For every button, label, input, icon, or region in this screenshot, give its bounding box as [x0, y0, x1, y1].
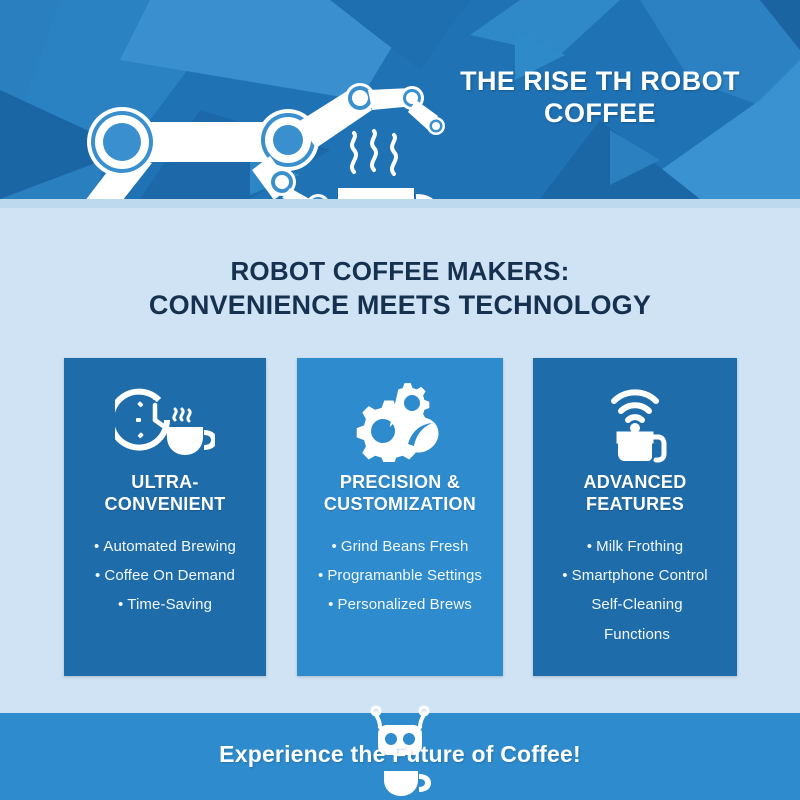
- list-item: Self-Cleaning: [539, 590, 731, 619]
- card-feature-list: •Milk Frothing •Smartphone Control Self-…: [533, 532, 737, 649]
- list-item-label: Automated Brewing: [103, 538, 236, 555]
- bullet-icon: •: [318, 567, 323, 584]
- list-item-label: Smartphone Control: [572, 567, 708, 584]
- robot-arm-illustration: [60, 60, 480, 199]
- feature-card-advanced-features[interactable]: ADVANCED FEATURES •Milk Frothing •Smartp…: [533, 358, 737, 676]
- steam-icon: [352, 131, 396, 174]
- list-item: •Automated Brewing: [70, 532, 260, 561]
- page-title-line1: ROBOT COFFEE MAKERS:: [0, 255, 800, 288]
- footer-tagline: Experience the Future of Coffee!: [0, 741, 800, 768]
- page-title: ROBOT COFFEE MAKERS: CONVENIENCE MEETS T…: [0, 255, 800, 323]
- list-item: •Grind Beans Fresh: [303, 532, 497, 561]
- wifi-milk-pitcher-icon: [585, 372, 685, 468]
- coffee-cup-icon: [384, 771, 431, 796]
- page-title-line2: CONVENIENCE MEETS TECHNOLOGY: [0, 288, 800, 323]
- coffee-cup-icon: [338, 188, 438, 199]
- bullet-icon: •: [95, 567, 100, 584]
- robot-arm-icon: [78, 83, 445, 199]
- steam-icon: [174, 409, 190, 421]
- card-title-line2: CUSTOMIZATION: [324, 494, 476, 514]
- card-title-line2: FEATURES: [586, 494, 684, 514]
- card-title-line1: PRECISION &: [340, 472, 460, 492]
- list-item: Functions: [539, 620, 731, 649]
- bullet-icon: •: [118, 596, 123, 613]
- card-title-line1: ULTRA-: [131, 472, 198, 492]
- bullet-icon: •: [587, 538, 592, 555]
- list-item-label: Coffee On Demand: [104, 567, 235, 584]
- clock-coffee-cup-icon: [115, 372, 215, 468]
- bullet-icon: •: [332, 538, 337, 555]
- header-bottom-strip: [0, 199, 800, 208]
- list-item: •Programanble Settings: [303, 561, 497, 590]
- header-title-line2: COFFEE: [544, 98, 656, 128]
- feature-card-precision-customization[interactable]: PRECISION & CUSTOMIZATION •Grind Beans F…: [297, 358, 503, 676]
- list-item-label: Grind Beans Fresh: [341, 538, 469, 555]
- bullet-icon: •: [328, 596, 333, 613]
- bullet-icon: •: [94, 538, 99, 555]
- list-item: •Smartphone Control: [539, 561, 731, 590]
- list-item-label: Personalized Brews: [337, 596, 471, 613]
- list-item: •Coffee On Demand: [70, 561, 260, 590]
- list-item-label: Functions: [604, 626, 670, 643]
- header-banner: THE RISE TH ROBOT COFFEE: [0, 0, 800, 199]
- card-feature-list: •Automated Brewing •Coffee On Demand •Ti…: [64, 532, 266, 620]
- card-title: ULTRA- CONVENIENT: [104, 472, 225, 516]
- list-item: •Milk Frothing: [539, 532, 731, 561]
- wifi-icon: [614, 392, 656, 420]
- robot-head-icon: [376, 713, 424, 727]
- list-item: •Time-Saving: [70, 590, 260, 619]
- list-item-label: Milk Frothing: [596, 538, 683, 555]
- milk-pitcher-icon: [618, 433, 664, 461]
- gears-coffee-bean-icon: [350, 372, 450, 468]
- header-title-line1: THE RISE TH ROBOT: [460, 66, 740, 96]
- feature-card-ultra-convenient[interactable]: ULTRA- CONVENIENT •Automated Brewing •Co…: [64, 358, 266, 676]
- card-title: PRECISION & CUSTOMIZATION: [324, 472, 476, 516]
- feature-cards: ULTRA- CONVENIENT •Automated Brewing •Co…: [0, 358, 800, 676]
- card-title: ADVANCED FEATURES: [583, 472, 686, 516]
- card-title-line2: CONVENIENT: [104, 494, 225, 514]
- list-item-label: Self-Cleaning: [591, 596, 682, 613]
- header-title: THE RISE TH ROBOT COFFEE: [430, 66, 770, 129]
- card-title-line1: ADVANCED: [583, 472, 686, 492]
- list-item-label: Programanble Settings: [327, 567, 482, 584]
- card-feature-list: •Grind Beans Fresh •Programanble Setting…: [297, 532, 503, 620]
- footer-banner: Experience the Future of Coffee!: [0, 713, 800, 800]
- list-item: •Personalized Brews: [303, 590, 497, 619]
- infographic-page: THE RISE TH ROBOT COFFEE ROBOT COFFEE MA…: [0, 0, 800, 800]
- list-item-label: Time-Saving: [127, 596, 212, 613]
- bullet-icon: •: [562, 567, 567, 584]
